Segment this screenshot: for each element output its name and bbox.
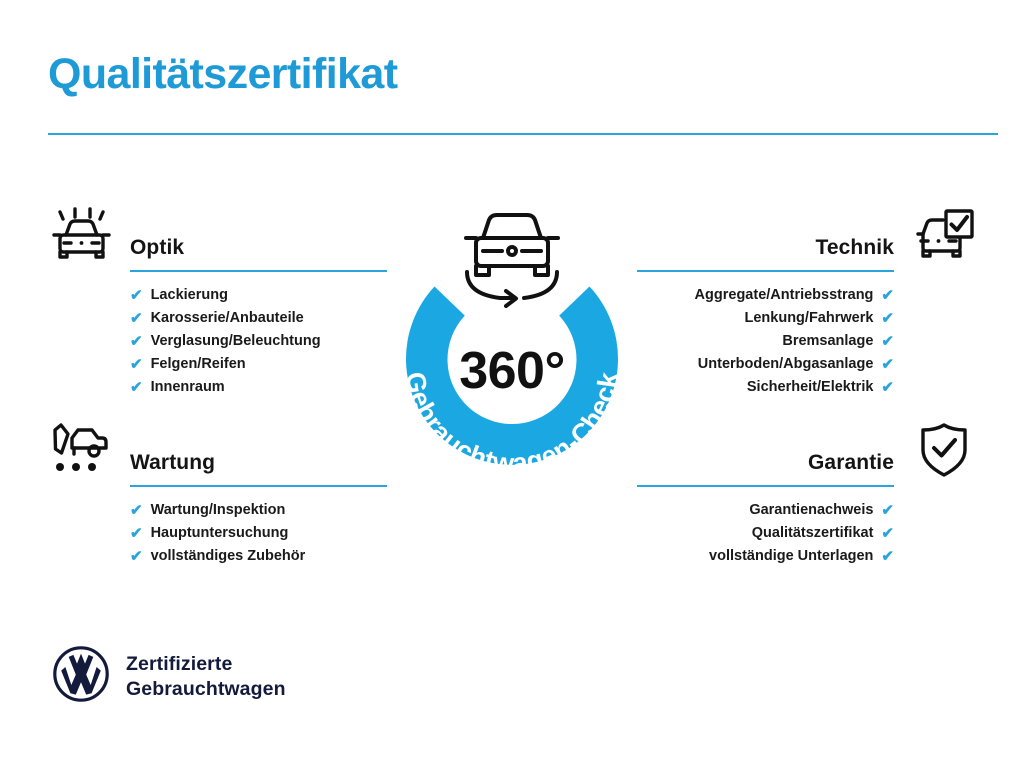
check-icon: ✔ <box>881 334 894 349</box>
list-item: Bremsanlage✔ <box>637 330 982 353</box>
section-divider-garantie <box>637 485 894 487</box>
list-item-label: Qualitätszertifikat <box>752 526 874 541</box>
360-gebrauchtwagen-check-badge: Gebrauchtwagen-Check 360° <box>374 190 650 490</box>
section-technik: Technik Aggregate/Antriebsstrang✔ Lenkun… <box>637 200 982 399</box>
list-item: ✔Felgen/Reifen <box>42 353 387 376</box>
list-item-label: Aggregate/Antriebsstrang <box>695 288 874 303</box>
list-item-label: Wartung/Inspektion <box>151 503 286 518</box>
checklist-optik: ✔Lackierung ✔Karosserie/Anbauteile ✔Verg… <box>42 272 387 399</box>
section-header-wartung: Wartung <box>42 415 387 487</box>
list-item-label: Garantienachweis <box>749 503 873 518</box>
vw-footer-line2: Gebrauchtwagen <box>126 677 286 701</box>
list-item: vollständige Unterlagen✔ <box>637 545 982 568</box>
list-item-label: Verglasung/Beleuchtung <box>151 334 321 349</box>
list-item: Lenkung/Fahrwerk✔ <box>637 307 982 330</box>
vw-footer-line1: Zertifizierte <box>126 652 286 676</box>
page-title: Qualitätszertifikat <box>48 52 397 97</box>
car-rotate-icon <box>466 215 558 306</box>
list-item: Sicherheit/Elektrik✔ <box>637 376 982 399</box>
section-header-technik: Technik <box>637 200 982 272</box>
section-garantie: Garantie Garantienachweis✔ Qualitätszert… <box>637 415 982 568</box>
list-item-label: Unterboden/Abgasanlage <box>698 357 874 372</box>
check-icon: ✔ <box>130 357 143 372</box>
section-optik: Optik ✔Lackierung ✔Karosserie/Anbauteile… <box>42 200 387 399</box>
list-item: ✔Hauptuntersuchung <box>42 522 387 545</box>
check-icon: ✔ <box>881 526 894 541</box>
section-divider-wartung <box>130 485 387 487</box>
section-header-garantie: Garantie <box>637 415 982 487</box>
check-icon: ✔ <box>130 311 143 326</box>
section-divider-optik <box>130 270 387 272</box>
list-item-label: Karosserie/Anbauteile <box>151 311 304 326</box>
check-icon: ✔ <box>881 311 894 326</box>
vw-footer-text: Zertifizierte Gebrauchtwagen <box>126 652 286 701</box>
section-title-garantie: Garantie <box>808 451 894 475</box>
checklist-technik: Aggregate/Antriebsstrang✔ Lenkung/Fahrwe… <box>637 272 982 399</box>
check-icon: ✔ <box>881 380 894 395</box>
check-icon: ✔ <box>881 357 894 372</box>
check-icon: ✔ <box>130 503 143 518</box>
list-item-label: Innenraum <box>151 380 225 395</box>
check-icon: ✔ <box>130 288 143 303</box>
list-item: ✔Lackierung <box>42 284 387 307</box>
car-shine-icon <box>42 202 118 268</box>
title-divider <box>48 133 998 135</box>
list-item-label: Hauptuntersuchung <box>151 526 289 541</box>
vw-certified-footer: Zertifizierte Gebrauchtwagen <box>52 645 286 708</box>
list-item: ✔Verglasung/Beleuchtung <box>42 330 387 353</box>
check-icon: ✔ <box>881 503 894 518</box>
list-item: Garantienachweis✔ <box>637 499 982 522</box>
vw-logo-icon <box>52 645 110 708</box>
check-icon: ✔ <box>881 549 894 564</box>
list-item: ✔vollständiges Zubehör <box>42 545 387 568</box>
check-icon: ✔ <box>130 334 143 349</box>
check-icon: ✔ <box>130 380 143 395</box>
list-item: ✔Karosserie/Anbauteile <box>42 307 387 330</box>
list-item-label: Lenkung/Fahrwerk <box>745 311 874 326</box>
list-item-label: Sicherheit/Elektrik <box>747 380 874 395</box>
check-icon: ✔ <box>881 288 894 303</box>
service-log-icon <box>42 417 118 483</box>
section-wartung: Wartung ✔Wartung/Inspektion ✔Hauptunters… <box>42 415 387 568</box>
list-item: Qualitätszertifikat✔ <box>637 522 982 545</box>
check-icon: ✔ <box>130 526 143 541</box>
list-item-label: Lackierung <box>151 288 228 303</box>
check-icon: ✔ <box>130 549 143 564</box>
qualitaetszertifikat-page: Qualitätszertifikat Optik ✔Lackierung ✔K… <box>0 0 1024 768</box>
list-item: ✔Innenraum <box>42 376 387 399</box>
list-item-label: Felgen/Reifen <box>151 357 246 372</box>
list-item: Aggregate/Antriebsstrang✔ <box>637 284 982 307</box>
list-item-label: vollständige Unterlagen <box>709 549 873 564</box>
section-title-technik: Technik <box>816 236 895 260</box>
list-item: Unterboden/Abgasanlage✔ <box>637 353 982 376</box>
section-title-wartung: Wartung <box>130 451 215 475</box>
checklist-garantie: Garantienachweis✔ Qualitätszertifikat✔ v… <box>637 487 982 568</box>
section-divider-technik <box>637 270 894 272</box>
section-header-optik: Optik <box>42 200 387 272</box>
section-title-optik: Optik <box>130 236 184 260</box>
car-checkbox-icon <box>906 202 982 268</box>
checklist-wartung: ✔Wartung/Inspektion ✔Hauptuntersuchung ✔… <box>42 487 387 568</box>
list-item: ✔Wartung/Inspektion <box>42 499 387 522</box>
list-item-label: Bremsanlage <box>782 334 873 349</box>
list-item-label: vollständiges Zubehör <box>151 549 306 564</box>
shield-check-icon <box>906 417 982 483</box>
